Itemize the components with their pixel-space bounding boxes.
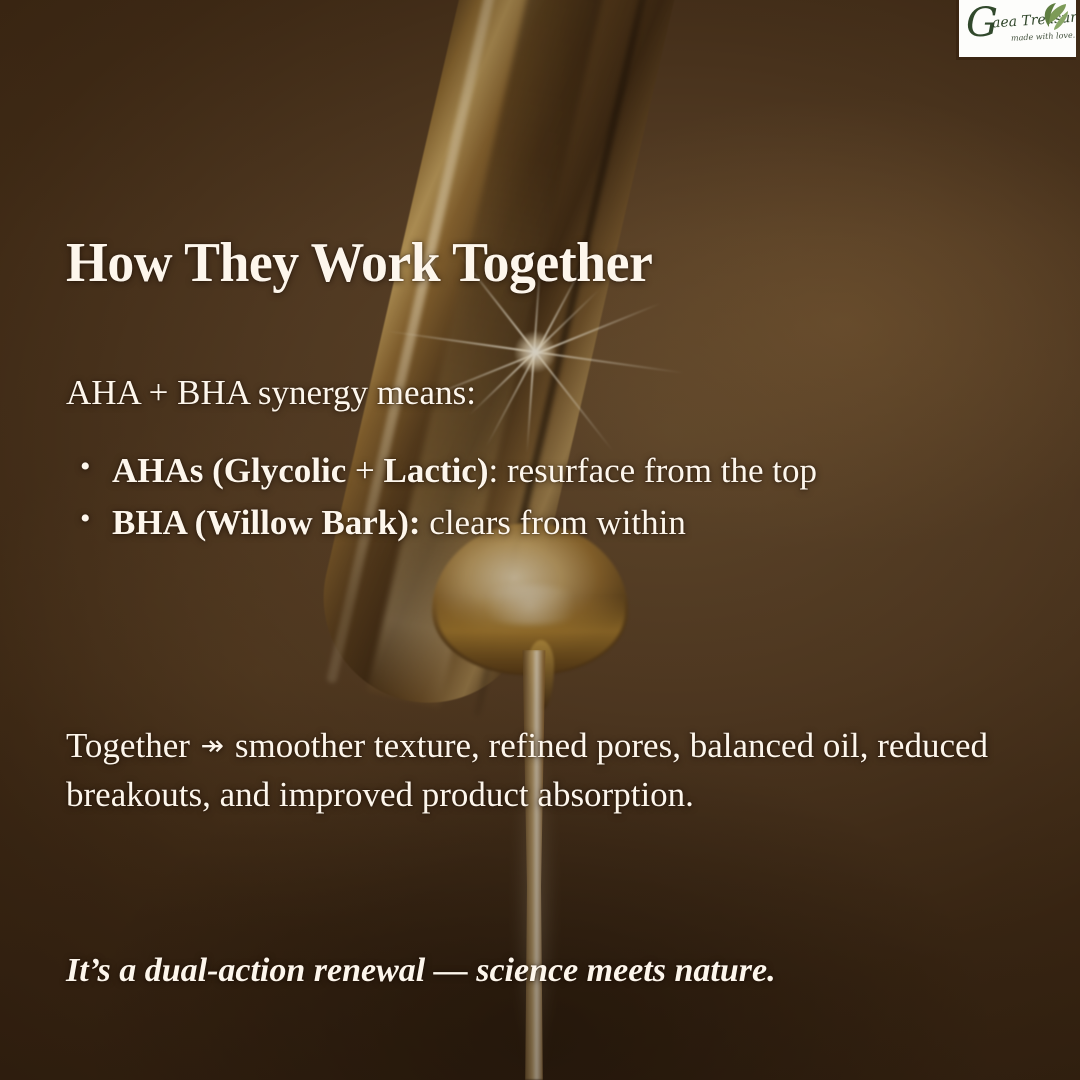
intro-line: AHA + BHA synergy means: <box>66 372 476 414</box>
bullet-2-rest: clears from within <box>421 503 686 542</box>
list-item: BHA (Willow Bark): clears from within <box>112 500 1062 546</box>
summary-prefix: Together <box>66 726 199 765</box>
benefit-list: AHAs (Glycolic + Lactic): resurface from… <box>66 448 1062 551</box>
bullet-1-lead-b: Lactic) <box>375 451 489 490</box>
bullet-1-lead-a: AHAs (Glycolic <box>112 451 355 490</box>
bullet-1-rest: : resurface from the top <box>488 451 816 490</box>
list-item: AHAs (Glycolic + Lactic): resurface from… <box>112 448 1062 494</box>
post-text-overlay: How They Work Together AHA + BHA synergy… <box>0 0 1080 1080</box>
social-post-card: G aea Treasures made with love... How Th… <box>0 0 1080 1080</box>
page-title: How They Work Together <box>66 234 652 293</box>
bullet-1-plus: + <box>355 451 375 490</box>
summary-paragraph: Together ↠ smoother texture, refined por… <box>66 721 996 819</box>
right-arrow-icon: ↠ <box>199 729 226 762</box>
bullet-2-lead-a: BHA (Willow Bark): <box>112 503 421 542</box>
closing-tagline: It’s a dual-action renewal — science mee… <box>66 950 776 993</box>
